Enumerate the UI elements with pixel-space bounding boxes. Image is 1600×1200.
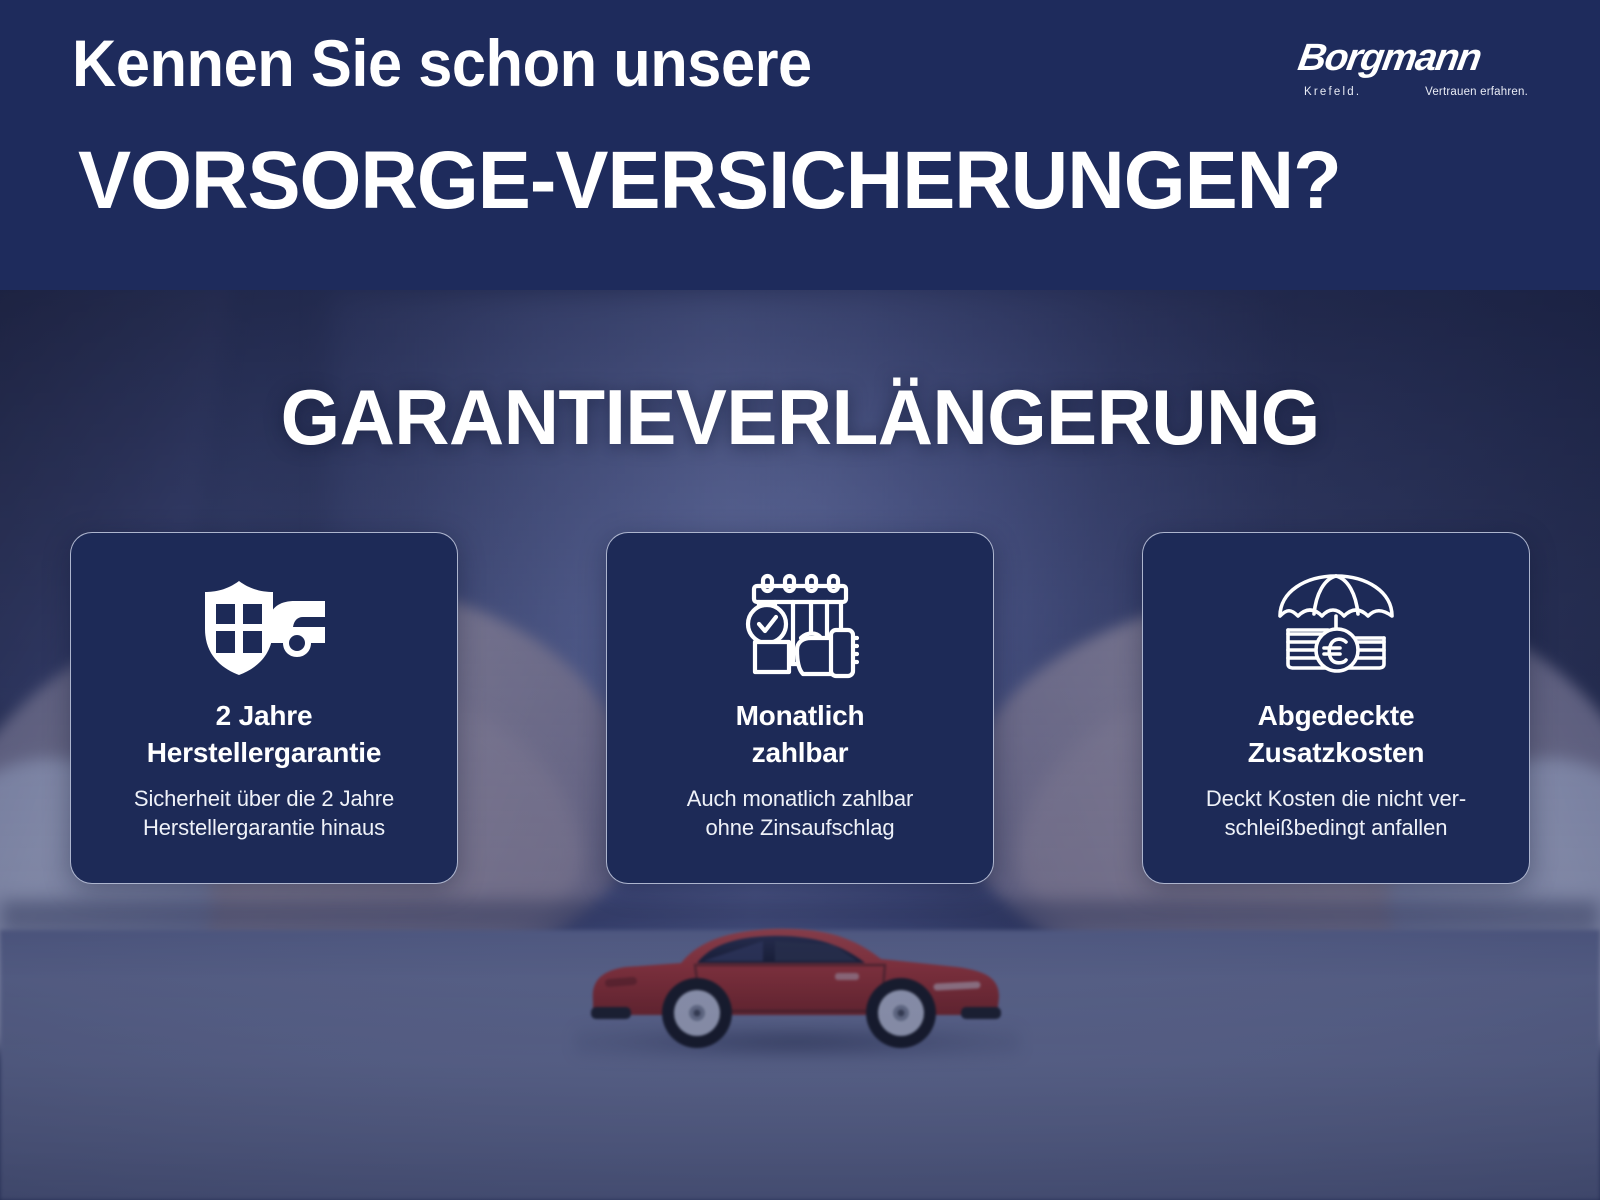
promo-banner: Kennen Sie schon unsere VORSORGE-VERSICH…	[0, 0, 1600, 1200]
feature-card-title: 2 Jahre Herstellergarantie	[147, 697, 382, 771]
feature-card-description: Auch monatlich zahlbar ohne Zinsaufschla…	[687, 785, 913, 842]
feature-card-title: Monatlich zahlbar	[736, 697, 865, 771]
logo-tagline-left: Krefeld.	[1304, 86, 1361, 98]
page-title-text: GARANTIEVERLÄNGERUNG	[280, 378, 1319, 456]
feature-card-title: Abgedeckte Zusatzkosten	[1248, 697, 1425, 771]
header-line-2: VORSORGE-VERSICHERUNGEN?	[78, 140, 1341, 222]
feature-card-monatlich-zahlbar[interactable]: Monatlich zahlbar Auch monatlich zahlbar…	[606, 532, 994, 884]
calendar-check-money-icon	[741, 571, 859, 683]
logo-wordmark: Borgmann	[1295, 36, 1532, 80]
logo-tagline: Krefeld. Vertrauen erfahren.	[1304, 84, 1528, 100]
feature-card-description: Sicherheit über die 2 Jahre Herstellerga…	[134, 785, 394, 842]
header-band: Kennen Sie schon unsere VORSORGE-VERSICH…	[0, 0, 1600, 290]
feature-card-herstellergarantie[interactable]: 2 Jahre Herstellergarantie Sicherheit üb…	[70, 532, 458, 884]
page-title: GARANTIEVERLÄNGERUNG	[0, 378, 1600, 456]
shield-car-icon	[199, 571, 329, 683]
header-line-1: Kennen Sie schon unsere	[72, 30, 812, 96]
borgmann-logo[interactable]: Borgmann Krefeld. Vertrauen erfahren.	[1302, 36, 1528, 106]
umbrella-coins-euro-icon	[1276, 571, 1396, 683]
logo-tagline-right: Vertrauen erfahren.	[1425, 86, 1528, 98]
feature-card-list: 2 Jahre Herstellergarantie Sicherheit üb…	[70, 532, 1530, 884]
feature-card-zusatzkosten[interactable]: Abgedeckte Zusatzkosten Deckt Kosten die…	[1142, 532, 1530, 884]
feature-card-description: Deckt Kosten die nicht ver- schleißbedin…	[1206, 785, 1466, 842]
